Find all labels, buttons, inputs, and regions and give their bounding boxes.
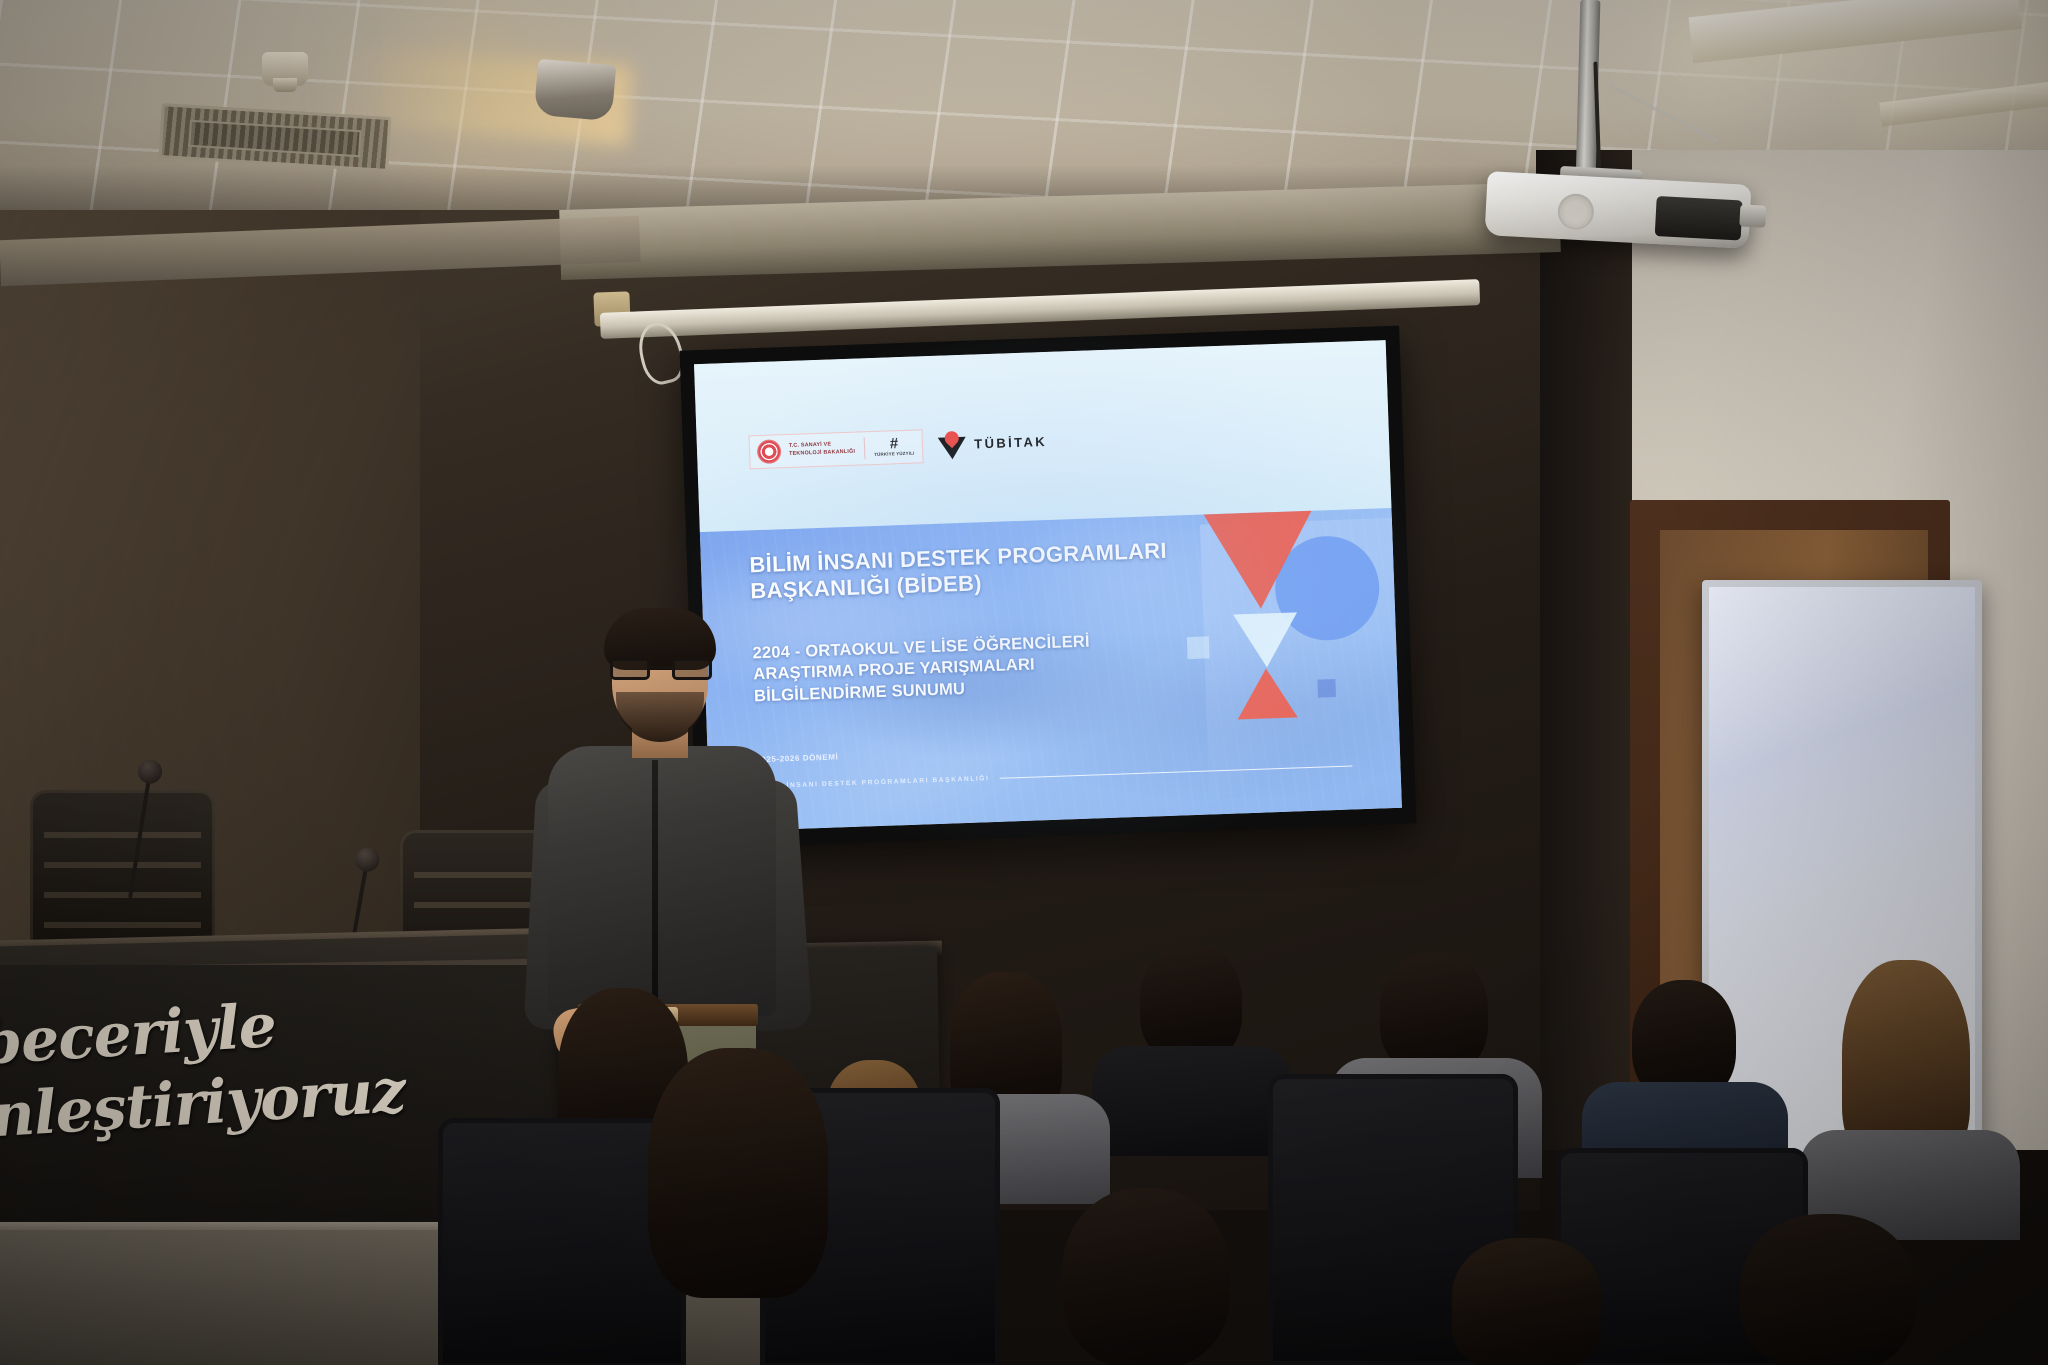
wall-script-text: beceriyle ünleştiriyoruz bbox=[0, 987, 407, 1148]
tubitak-wordmark: TÜBİTAK bbox=[974, 434, 1047, 452]
right-wall-dark-strip bbox=[1536, 150, 1632, 1150]
projector-lens-icon bbox=[1739, 204, 1766, 227]
hashtag-icon: # bbox=[890, 438, 899, 450]
tubitak-logo-group: TÜBİTAK bbox=[938, 427, 1048, 459]
tubitak-v-mark-icon bbox=[938, 430, 967, 459]
ministry-logo-group: T.C. SANAYİ VE TEKNOLOJİ BAKANLIĞI # TÜR… bbox=[748, 429, 923, 469]
presenter-beard bbox=[616, 692, 704, 742]
eyeglasses-icon bbox=[610, 658, 712, 680]
presenter-shirt bbox=[548, 746, 776, 1016]
audience-head bbox=[1452, 1238, 1602, 1365]
logo-divider bbox=[864, 437, 866, 459]
audience-head bbox=[648, 1048, 828, 1298]
audience-head bbox=[1062, 1188, 1230, 1365]
audience-head bbox=[1740, 1214, 1916, 1365]
slide-blue-square bbox=[1317, 679, 1336, 698]
projector-vent-icon bbox=[1557, 193, 1595, 231]
campaign-logo: # TÜRKİYE YÜZYILI bbox=[874, 437, 915, 456]
audience-shoulders bbox=[1092, 1046, 1292, 1156]
ministry-line-2: TEKNOLOJİ BAKANLIĞI bbox=[789, 448, 855, 458]
ministry-seal-icon bbox=[758, 440, 781, 463]
ministry-logo-text: T.C. SANAYİ VE TEKNOLOJİ BAKANLIĞI bbox=[789, 440, 856, 458]
presenter-shirt-placket bbox=[652, 760, 658, 1010]
projector-ports bbox=[1655, 196, 1743, 240]
campaign-logo-text: TÜRKİYE YÜZYILI bbox=[874, 450, 914, 456]
panel-chair bbox=[30, 790, 215, 950]
projected-slide: T.C. SANAYİ VE TEKNOLOJİ BAKANLIĞI # TÜR… bbox=[694, 340, 1402, 832]
conference-room-photo: T.C. SANAYİ VE TEKNOLOJİ BAKANLIĞI # TÜR… bbox=[0, 0, 2048, 1365]
